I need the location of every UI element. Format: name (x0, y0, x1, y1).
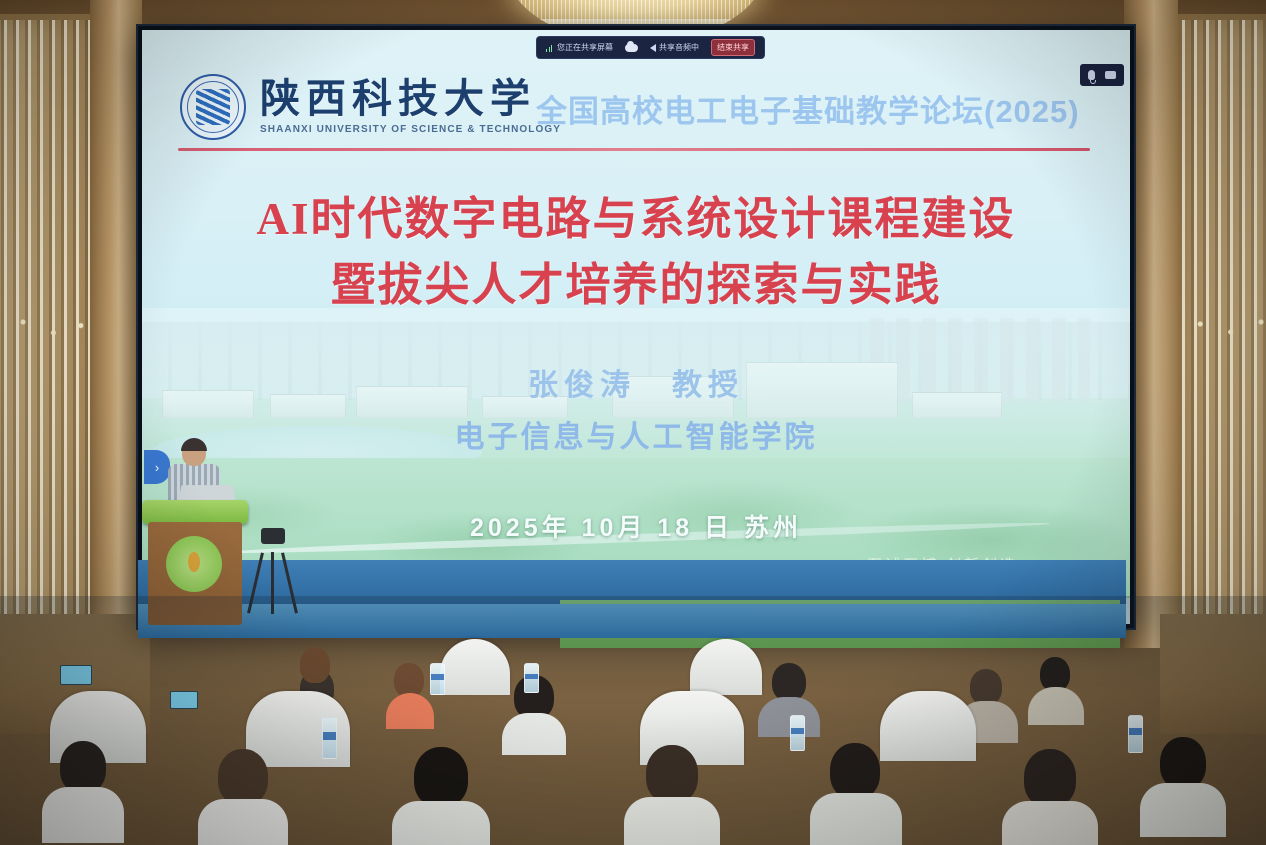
university-name-en: SHAANXI UNIVERSITY OF SCIENCE & TECHNOLO… (260, 124, 561, 135)
speaker-icon (650, 44, 656, 52)
university-logo: 陕西科技大学 SHAANXI UNIVERSITY OF SCIENCE & T… (180, 74, 561, 140)
wall-panel-right (1176, 14, 1266, 626)
slide-title-line1: AI时代数字电路与系统设计课程建设 (142, 182, 1130, 247)
microphone-icon[interactable] (1088, 70, 1095, 80)
audience-area (0, 596, 1266, 845)
university-emblem (166, 536, 222, 592)
smartphone-screen (60, 665, 92, 685)
department-name: 电子信息与人工智能学院 (142, 412, 1130, 456)
smartphone-screen (170, 691, 198, 709)
audio-share-status: 共享音频中 (650, 42, 699, 53)
slide-title-line2: 暨拔尖人才培养的探索与实践 (142, 248, 1130, 313)
wall-panel-left (0, 14, 102, 626)
sharing-status-label: 您正在共享屏幕 (557, 42, 613, 53)
end-share-button[interactable]: 结束共享 (711, 39, 755, 56)
audio-share-label: 共享音频中 (659, 42, 699, 53)
photo-scene: 陕西科技大学 SHAANXI UNIVERSITY OF SCIENCE & T… (0, 0, 1266, 845)
screen-share-toolbar[interactable]: 您正在共享屏幕 共享音频中 结束共享 (536, 36, 765, 59)
video-camera-icon[interactable] (1105, 71, 1116, 79)
header-divider (178, 148, 1090, 151)
pillar-left (90, 0, 142, 648)
signal-bars-icon (546, 44, 554, 52)
presenter-name: 张俊涛 教授 (142, 360, 1130, 404)
meeting-mini-toolbar[interactable] (1080, 64, 1124, 86)
university-name-cn: 陕西科技大学 (260, 79, 561, 119)
cloud-icon[interactable] (625, 44, 638, 52)
sharing-status: 您正在共享屏幕 (546, 42, 613, 53)
forum-title: 全国高校电工电子基础教学论坛(2025) (536, 86, 1080, 131)
university-seal-icon (180, 74, 246, 140)
